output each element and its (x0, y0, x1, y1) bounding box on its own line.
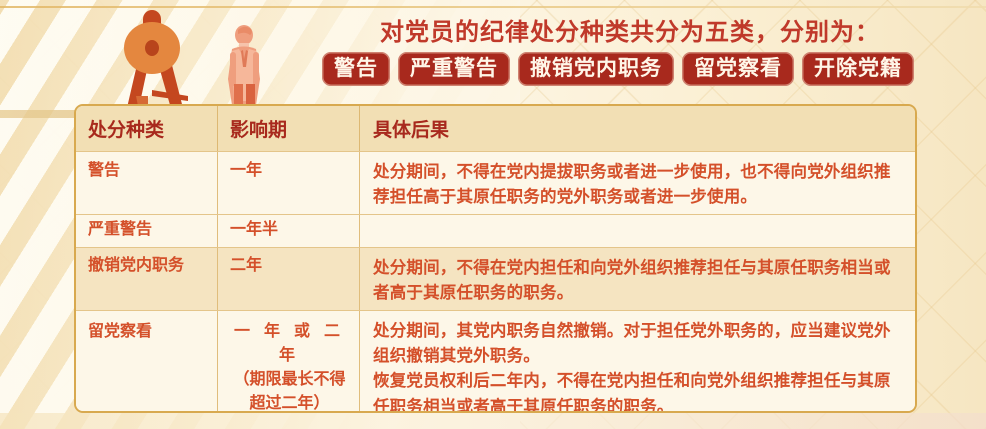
consequence-paragraph: 处分期间，其党内职务自然撤销。对于担任党外职务的，应当建议党外组织撤销其党外职务… (373, 318, 901, 368)
consequence-paragraph: 恢复党员权利后二年内，不得在党内担任和向党外组织推荐担任与其原任职务相当或者高于… (373, 368, 901, 413)
consequence-paragraph: 处分期间，不得在党内担任和向党外组织推荐担任与其原任职务相当或者高于其原任职务的… (373, 255, 901, 305)
badge-expulsion[interactable]: 开除党籍 (802, 52, 914, 86)
bottom-band (0, 413, 986, 429)
cell-category: 撤销党内职务 (76, 248, 218, 310)
period-line-2: （期限最长不得超过二年） (230, 368, 349, 413)
badge-remove-party-post[interactable]: 撤销党内职务 (518, 52, 674, 86)
table-row: 严重警告 一年半 (76, 214, 915, 247)
drafting-compass-icon (124, 10, 188, 116)
header-cell-period: 影响期 (218, 106, 360, 151)
header-cell-consequence: 具体后果 (360, 106, 915, 151)
cell-consequence: 处分期间，不得在党内担任和向党外组织推荐担任与其原任职务相当或者高于其原任职务的… (360, 248, 915, 310)
table-header-row: 处分种类 影响期 具体后果 (76, 106, 915, 151)
header-cell-category: 处分种类 (76, 106, 218, 151)
period-line-1: 一 年 或 二 年 (230, 320, 349, 368)
table-row: 警告 一年 处分期间，不得在党内提拔职务或者进一步使用，也不得向党外组织推荐担任… (76, 151, 915, 214)
table-row: 撤销党内职务 二年 处分期间，不得在党内担任和向党外组织推荐担任与其原任职务相当… (76, 247, 915, 310)
cell-category: 严重警告 (76, 215, 218, 247)
cell-period: 二年 (218, 248, 360, 310)
badge-warning[interactable]: 警告 (322, 52, 390, 86)
punishment-badge-list: 警告 严重警告 撤销党内职务 留党察看 开除党籍 (322, 52, 914, 86)
cell-period: 一年 (218, 152, 360, 214)
cell-category: 留党察看 (76, 311, 218, 413)
cell-category: 警告 (76, 152, 218, 214)
table-row: 留党察看 一 年 或 二 年 （期限最长不得超过二年） 处分期间，其党内职务自然… (76, 310, 915, 413)
cell-consequence: 处分期间，其党内职务自然撤销。对于担任党外职务的，应当建议党外组织撤销其党外职务… (360, 311, 915, 413)
infographic-canvas: 对党员的纪律处分种类共分为五类，分别为： 警告 严重警告 撤销党内职务 留党察看… (0, 0, 986, 429)
cell-period: 一年半 (218, 215, 360, 247)
badge-probation[interactable]: 留党察看 (682, 52, 794, 86)
consequence-paragraph: 处分期间，不得在党内提拔职务或者进一步使用，也不得向党外组织推荐担任高于其原任职… (373, 159, 901, 209)
cell-period: 一 年 或 二 年 （期限最长不得超过二年） (218, 311, 360, 413)
discipline-table: 处分种类 影响期 具体后果 警告 一年 处分期间，不得在党内提拔职务或者进一步使… (74, 104, 917, 413)
page-title: 对党员的纪律处分种类共分为五类，分别为： (380, 12, 980, 47)
cell-consequence: 处分期间，不得在党内提拔职务或者进一步使用，也不得向党外组织推荐担任高于其原任职… (360, 152, 915, 214)
badge-serious-warning[interactable]: 严重警告 (398, 52, 510, 86)
cell-consequence (360, 215, 915, 247)
